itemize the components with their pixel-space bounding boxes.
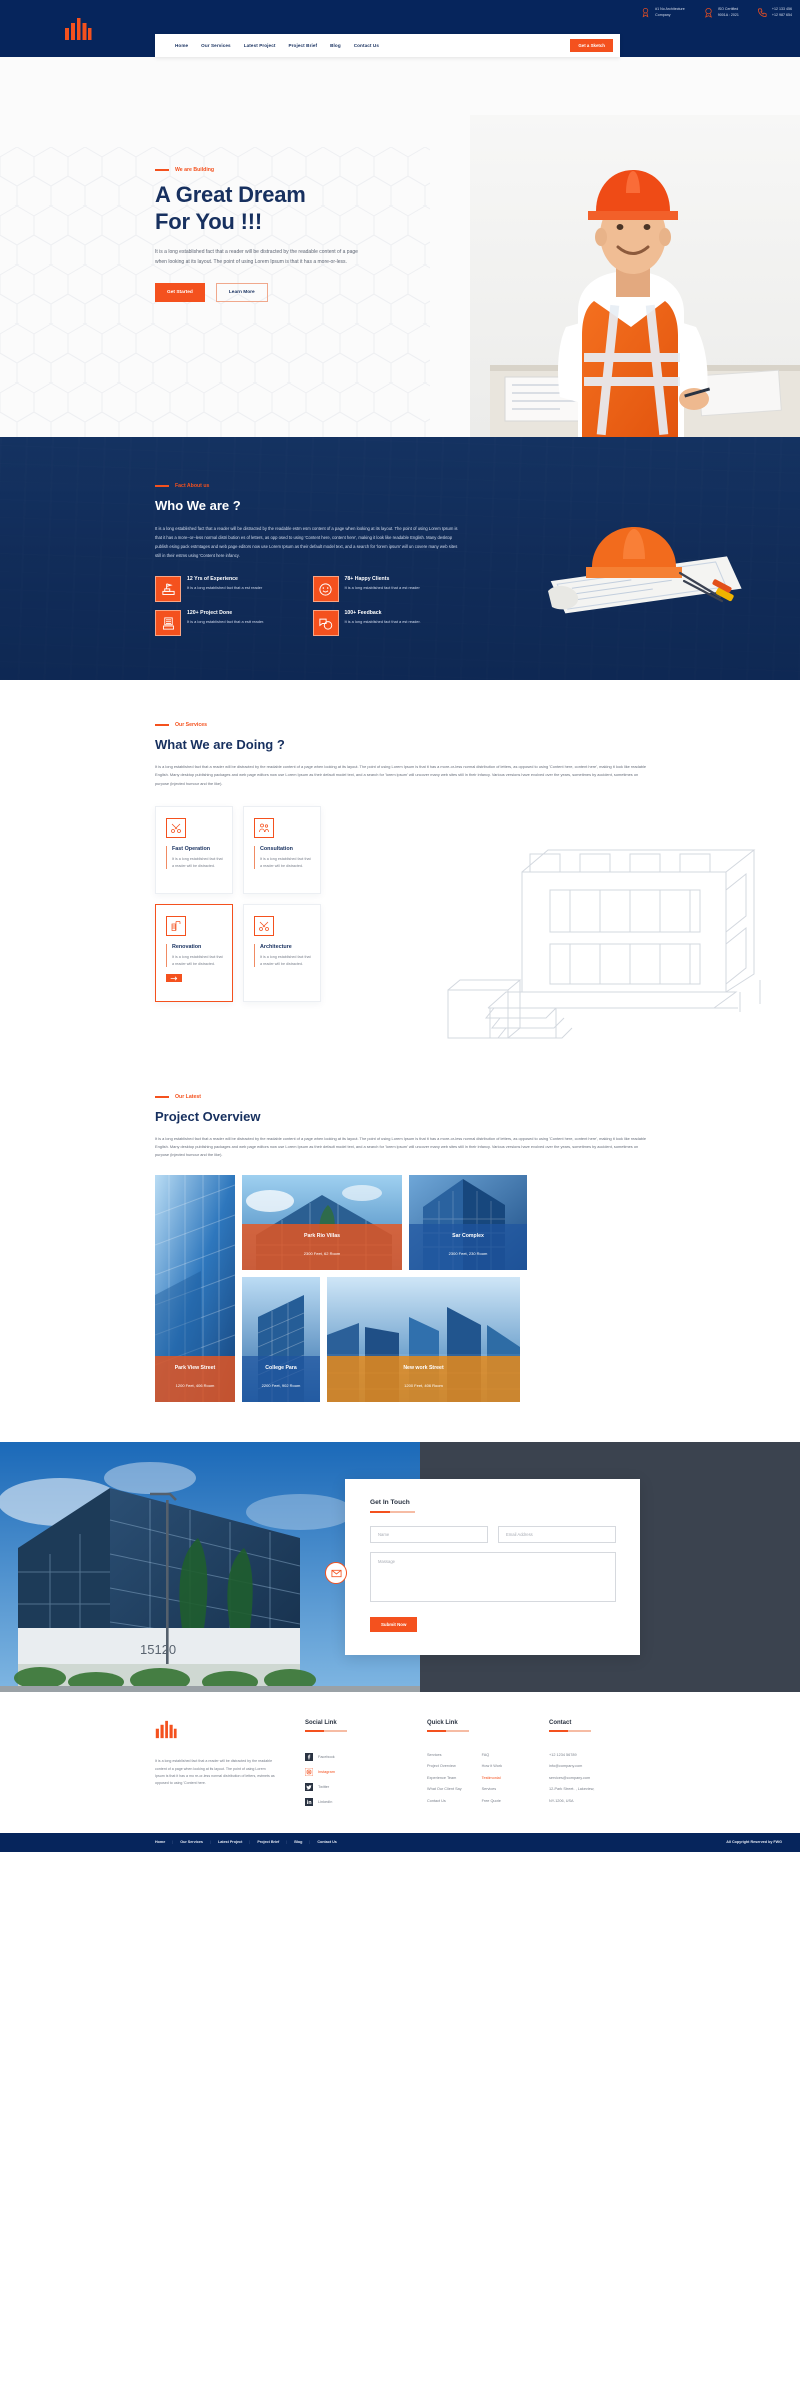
stat-desc: It is a long established fact that a est… (187, 585, 262, 591)
services-body: Fast Operation It is a long established … (155, 806, 800, 1036)
facebook-icon (305, 1753, 313, 1761)
instagram-icon (305, 1768, 313, 1776)
contact-address-line1: 12-Park Street. , Lakeview, (549, 1787, 675, 1791)
footer-columns: It is a long established fact that a rea… (155, 1720, 675, 1813)
phone-line1: +12 133 456 (772, 7, 792, 12)
service-desc: It is a long established fact that a rea… (172, 856, 223, 870)
eyebrow-dash-icon (155, 485, 169, 487)
project-meta: 1200 Feet, 406 Room (176, 1383, 215, 1388)
social-link-twitter[interactable]: Twitter (305, 1783, 427, 1791)
quicklink-list-2: FAQ How it Work Testimonial Services Fre… (482, 1753, 502, 1811)
top-info-item-award: #1 No Architecture Company (640, 7, 685, 18)
linkedin-icon (305, 1798, 313, 1806)
chat-bubbles-icon (313, 610, 339, 636)
name-input[interactable] (370, 1526, 488, 1543)
stat-card-experience: 12 Yrs of Experience It is a long establ… (155, 576, 303, 602)
top-info-award-text: #1 No Architecture Company (655, 7, 685, 17)
quicklink-how-it-work[interactable]: How it Work (482, 1764, 502, 1768)
eyebrow-dash-icon (155, 724, 169, 726)
stat-text: 120+ Project Done It is a long establish… (187, 610, 264, 625)
footer-quicklink-column: Quick Link Services Project Overview Exp… (427, 1720, 549, 1813)
about-content: Fact About us Who We are ? It is a long … (155, 483, 460, 636)
service-title: Fast Operation (172, 846, 223, 852)
social-link-instagram[interactable]: Instagram (305, 1768, 427, 1776)
service-title: Architecture (260, 944, 311, 950)
about-eyebrow: Fact About us (155, 483, 460, 489)
nav-separator: | (249, 1840, 250, 1844)
nav-separator: | (172, 1840, 173, 1844)
social-link-linkedin[interactable]: LinkedIn (305, 1798, 427, 1806)
quicklink-what-our-client-say[interactable]: What Our Client Say (427, 1787, 462, 1791)
nav-links: Home Our Services Latest Project Project… (175, 43, 379, 48)
contact-form-card: Get In Touch Submit Now (345, 1479, 640, 1655)
hero-title: A Great Dream For You !!! (155, 182, 360, 235)
stat-title: 12 Yrs of Experience (187, 576, 262, 582)
stat-title: 120+ Project Done (187, 610, 264, 616)
project-card-college-para[interactable]: College Para 2200 Feet, 902 Room (242, 1277, 320, 1402)
title-underline (370, 1511, 415, 1513)
service-card-architecture[interactable]: Architecture It is a long established fa… (243, 904, 321, 1002)
award-icon (640, 7, 651, 18)
project-caption: New work Street 1200 Feet, 406 Room (327, 1356, 520, 1402)
consult-people-icon (254, 818, 274, 838)
project-caption: Park Rio Villas 2300 Feet, 62 Room (242, 1224, 402, 1270)
stat-text: 100+ Feedback It is a long established f… (345, 610, 421, 625)
services-paragraph: It is a long established fact that a rea… (155, 763, 653, 788)
projects-header: Our Latest Project Overview It is a long… (155, 1094, 655, 1160)
top-contact-info: #1 No Architecture Company ISO Certified… (640, 7, 792, 18)
project-meta: 2300 Feet, 230 Room (449, 1251, 488, 1256)
services-header: Our Services What We are Doing ? It is a… (155, 722, 655, 788)
footer-brand-column: It is a long established fact that a rea… (155, 1720, 305, 1813)
footer-nav-blog[interactable]: Blog (294, 1840, 302, 1844)
about-paragraph: It is a long established fact that a rea… (155, 524, 460, 560)
hero-section: We are Building A Great Dream For You !!… (0, 57, 800, 437)
nav-item-project-brief[interactable]: Project Brief (289, 43, 318, 48)
email-input[interactable] (498, 1526, 616, 1543)
iso-line1: ISO Certified (718, 7, 739, 12)
project-title: College Para (247, 1365, 315, 1371)
building-logo-icon (64, 17, 92, 41)
project-card-park-view-street[interactable]: Park View Street 1200 Feet, 406 Room (155, 1175, 235, 1402)
building-stack-icon (155, 610, 181, 636)
footer-section: It is a long established fact that a rea… (0, 1692, 800, 1833)
projects-title: Project Overview (155, 1109, 655, 1124)
projects-eyebrow-text: Our Latest (175, 1094, 201, 1100)
title-underline (549, 1730, 591, 1732)
stat-text: 78+ Happy Clients It is a long establish… (345, 576, 420, 591)
hero-eyebrow-text: We are Building (175, 167, 214, 173)
contact-email-services: services@company.com (549, 1776, 675, 1780)
project-meta: 2300 Feet, 62 Room (304, 1251, 340, 1256)
contact-phone: +12 1234 56789 (549, 1753, 675, 1757)
project-title: Park View Street (160, 1365, 230, 1371)
quicklink-services-2[interactable]: Services (482, 1787, 502, 1791)
service-desc: It is a long established fact that a rea… (260, 856, 311, 870)
arrow-right-icon (170, 976, 178, 981)
project-card-sar-complex[interactable]: Sar Complex 2300 Feet, 230 Room (409, 1175, 527, 1270)
footer-about-text: It is a long established fact that a rea… (155, 1758, 275, 1787)
footer-social-list: Facebook Instagram Twitter (305, 1753, 427, 1806)
project-meta: 1200 Feet, 406 Room (404, 1383, 443, 1388)
hero-eyebrow: We are Building (155, 167, 360, 173)
hero-engineer-photo (470, 115, 800, 437)
services-title: What We are Doing ? (155, 737, 655, 752)
iso-line2: 9001A : 2021 (718, 13, 739, 18)
eyebrow-dash-icon (155, 1096, 169, 1098)
projects-paragraph: It is a long established fact that a rea… (155, 1135, 653, 1160)
nav-item-blog[interactable]: Blog (330, 43, 341, 48)
about-title: Who We are ? (155, 498, 460, 513)
service-arrow-button[interactable] (166, 974, 182, 982)
main-navigation: Home Our Services Latest Project Project… (155, 34, 620, 57)
learn-more-button[interactable]: Learn More (216, 283, 268, 302)
social-label: LinkedIn (318, 1800, 332, 1804)
quicklink-project-overview[interactable]: Project Overview (427, 1764, 462, 1768)
about-eyebrow-text: Fact About us (175, 483, 209, 489)
social-link-facebook[interactable]: Facebook (305, 1753, 427, 1761)
hero-content: We are Building A Great Dream For You !!… (0, 57, 360, 302)
top-info-phone-text: +12 133 456 +12 987 654 (772, 7, 792, 17)
footer-bottom-bar: Home | Our Services | Latest Project | P… (0, 1833, 800, 1852)
project-caption: Sar Complex 2300 Feet, 230 Room (409, 1224, 527, 1270)
footer-bottom-nav: Home | Our Services | Latest Project | P… (155, 1840, 337, 1844)
project-caption: College Para 2200 Feet, 902 Room (242, 1356, 320, 1402)
contact-address-line2: NY-1206, USA (549, 1799, 675, 1803)
quicklink-free-quote[interactable]: Free Quote (482, 1799, 502, 1803)
title-underline (305, 1730, 347, 1732)
services-eyebrow: Our Services (155, 722, 655, 728)
stat-card-feedback: 100+ Feedback It is a long established f… (313, 610, 461, 636)
quicklink-faq[interactable]: FAQ (482, 1753, 502, 1757)
quicklink-experience-team[interactable]: Experience Team (427, 1776, 462, 1780)
tools-cross-icon (254, 916, 274, 936)
phone-icon (757, 7, 768, 18)
flag-podium-icon (155, 576, 181, 602)
project-meta: 2200 Feet, 902 Room (262, 1383, 301, 1388)
quicklink-contact-us[interactable]: Contact Us (427, 1799, 462, 1803)
service-card-body: Fast Operation It is a long established … (166, 846, 223, 870)
stat-desc: It is a long established fact that a est… (345, 619, 421, 625)
tools-cross-icon (166, 818, 186, 838)
projects-section: Our Latest Project Overview It is a long… (0, 1066, 800, 1443)
nav-item-our-services[interactable]: Our Services (201, 43, 231, 48)
social-label: Twitter (318, 1785, 329, 1789)
nav-separator: | (210, 1840, 211, 1844)
stat-desc: It is a long established fact that a est… (187, 619, 264, 625)
contact-form-row (370, 1526, 616, 1543)
hero-buttons: Get Started Learn More (155, 283, 360, 302)
copyright-text: All Copyright Reserved by FWG (726, 1840, 782, 1844)
nav-separator: | (309, 1840, 310, 1844)
phone-line2: +12 987 654 (772, 13, 792, 18)
footer-social-title: Social Link (305, 1720, 427, 1726)
stat-title: 100+ Feedback (345, 610, 421, 616)
project-title: Sar Complex (414, 1233, 522, 1239)
footer-nav-contact-us[interactable]: Contact Us (317, 1840, 336, 1844)
stat-title: 78+ Happy Clients (345, 576, 420, 582)
footer-nav-project-brief[interactable]: Project Brief (257, 1840, 279, 1844)
stat-text: 12 Yrs of Experience It is a long establ… (187, 576, 262, 591)
project-card-new-work-street[interactable]: New work Street 1200 Feet, 406 Room (327, 1277, 520, 1402)
eyebrow-dash-icon (155, 169, 169, 171)
projects-eyebrow: Our Latest (155, 1094, 655, 1100)
service-card-fast-operation[interactable]: Fast Operation It is a long established … (155, 806, 233, 894)
service-card-body: Renovation It is a long established fact… (166, 944, 223, 968)
quicklink-list-1: Services Project Overview Experience Tea… (427, 1753, 462, 1811)
project-card-park-rio-villas[interactable]: Park Rio Villas 2300 Feet, 62 Room (242, 1175, 402, 1270)
footer-quicklink-title: Quick Link (427, 1720, 549, 1726)
services-eyebrow-text: Our Services (175, 722, 207, 728)
mail-icon (331, 1568, 342, 1579)
submit-now-button[interactable]: Submit Now (370, 1617, 417, 1632)
project-caption: Park View Street 1200 Feet, 406 Room (155, 1356, 235, 1402)
contact-email-info: info@company.com (549, 1764, 675, 1768)
contact-section: 15120 Get In Touch (0, 1442, 800, 1692)
footer-contact-list: +12 1234 56789 info@company.com services… (549, 1753, 675, 1803)
quicklink-services[interactable]: Services (427, 1753, 462, 1757)
stat-card-clients: 78+ Happy Clients It is a long establish… (313, 576, 461, 602)
twitter-icon (305, 1783, 313, 1791)
social-label: Instagram (318, 1770, 335, 1774)
service-card-body: Consultation It is a long established fa… (254, 846, 311, 870)
contact-form-title: Get In Touch (370, 1499, 616, 1506)
services-cards: Fast Operation It is a long established … (155, 806, 321, 1002)
service-card-consultation[interactable]: Consultation It is a long established fa… (243, 806, 321, 894)
footer-nav-latest-project[interactable]: Latest Project (218, 1840, 242, 1844)
award-line2: Company (655, 13, 685, 18)
nav-item-home[interactable]: Home (175, 43, 188, 48)
footer-contact-column: Contact +12 1234 56789 info@company.com … (549, 1720, 675, 1813)
service-card-renovation[interactable]: Renovation It is a long established fact… (155, 904, 233, 1002)
stat-desc: It is a long established fact that a est… (345, 585, 420, 591)
footer-nav-our-services[interactable]: Our Services (180, 1840, 203, 1844)
hero-title-line1: A Great Dream (155, 182, 306, 207)
message-textarea[interactable] (370, 1552, 616, 1602)
title-underline (427, 1730, 469, 1732)
top-info-iso-text: ISO Certified 9001A : 2021 (718, 7, 739, 17)
hero-paragraph: It is a long established fact that a rea… (155, 247, 360, 267)
service-title: Renovation (172, 944, 223, 950)
about-stats-grid: 12 Yrs of Experience It is a long establ… (155, 576, 460, 636)
top-info-item-iso: ISO Certified 9001A : 2021 (703, 7, 739, 18)
about-section: Fact About us Who We are ? It is a long … (0, 437, 800, 680)
helmet-blueprint-photo (530, 495, 745, 645)
service-card-body: Architecture It is a long established fa… (254, 944, 311, 968)
service-title: Consultation (260, 846, 311, 852)
footer-contact-title: Contact (549, 1720, 675, 1726)
service-desc: It is a long established fact that a rea… (172, 954, 223, 968)
hero-title-line2: For You !!! (155, 209, 262, 234)
svg-text:15120: 15120 (140, 1642, 176, 1657)
get-a-sketch-button[interactable]: Get a Sketch (570, 39, 613, 52)
award-line1: #1 No Architecture (655, 7, 685, 12)
footer-quicklink-lists: Services Project Overview Experience Tea… (427, 1753, 549, 1811)
smiley-icon (313, 576, 339, 602)
nav-separator: | (286, 1840, 287, 1844)
get-started-button[interactable]: Get Started (155, 283, 205, 302)
nav-item-contact-us[interactable]: Contact Us (354, 43, 379, 48)
service-desc: It is a long established fact that a rea… (260, 954, 311, 968)
projects-grid: Park View Street 1200 Feet, 406 Room (155, 1175, 655, 1402)
services-section: Our Services What We are Doing ? It is a… (0, 680, 800, 1066)
social-label: Facebook (318, 1755, 335, 1759)
project-title: New work Street (332, 1365, 515, 1371)
footer-social-column: Social Link Facebook Instagram (305, 1720, 427, 1813)
project-title: Park Rio Villas (247, 1233, 397, 1239)
landing-page: #1 No Architecture Company ISO Certified… (0, 0, 800, 1852)
crane-tower-icon (166, 916, 186, 936)
badge-icon (703, 7, 714, 18)
stat-card-projects: 120+ Project Done It is a long establish… (155, 610, 303, 636)
top-info-item-phone: +12 133 456 +12 987 654 (757, 7, 792, 18)
house-blueprint-illustration (430, 794, 790, 1046)
footer-nav-home[interactable]: Home (155, 1840, 165, 1844)
nav-item-latest-project[interactable]: Latest Project (244, 43, 276, 48)
quicklink-testimonial[interactable]: Testimonial (482, 1776, 502, 1780)
building-logo-icon (155, 1720, 177, 1739)
site-logo[interactable] (0, 0, 155, 57)
